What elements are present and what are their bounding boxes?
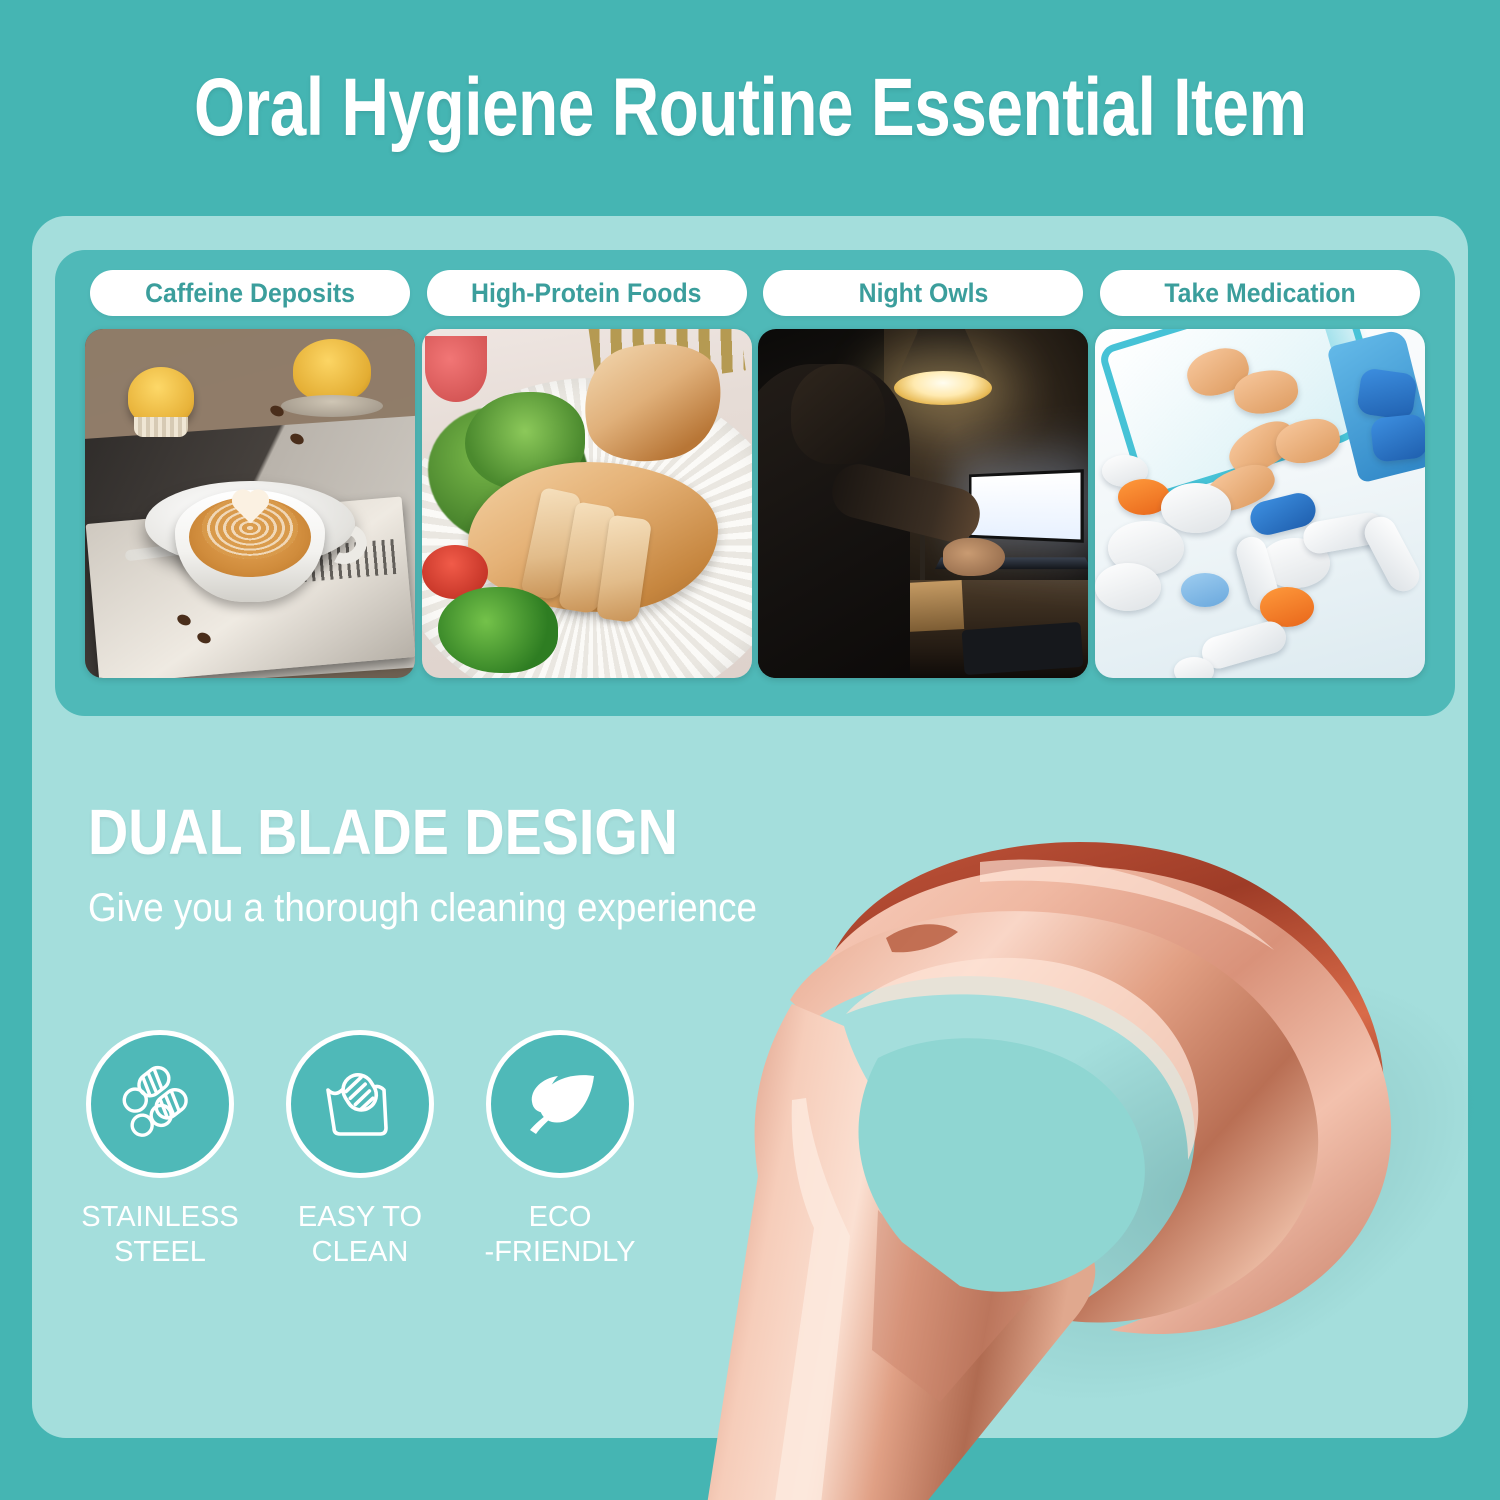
tongue-scraper-illustration [640,790,1500,1500]
feature-label: ECO -FRIENDLY [485,1200,636,1270]
laptop-screen [969,469,1084,543]
rose-gold-dual-blade-tongue-scraper [640,790,1500,1500]
pill-capsule [1359,512,1425,598]
feature-eco-friendly[interactable]: ECO -FRIENDLY [482,1030,638,1270]
pill-tablet [1095,563,1161,611]
feature-list: STAINLESS STEEL EASY TO CLEAN [82,1030,638,1270]
stainless-steel-icon [114,1056,206,1153]
cause-label-text: Caffeine Deposits [145,278,355,309]
mouse-pad [961,622,1083,676]
feature-stainless-steel[interactable]: STAINLESS STEEL [82,1030,238,1270]
lamp-glow [894,371,992,405]
pill-capsule [1356,367,1418,420]
cause-label-pill: High-Protein Foods [427,270,747,316]
person-head [791,364,885,464]
bear-cupcake-right [293,339,371,401]
cause-label-pill: Caffeine Deposits [90,270,410,316]
cause-label-text: High-Protein Foods [471,278,701,309]
page-title: Oral Hygiene Routine Essential Item [194,67,1306,149]
latte-art-heart [229,491,271,531]
bear-cupcake-left [128,367,194,425]
causes-row: Caffeine Deposits [55,250,1455,716]
easy-to-clean-icon [314,1056,406,1153]
feature-icon-circle [86,1030,234,1178]
feature-easy-to-clean[interactable]: EASY TO CLEAN [282,1030,438,1270]
pill-tablet [1174,657,1214,678]
fried-chicken-photo [422,329,752,678]
feature-label: EASY TO CLEAN [298,1200,422,1270]
cause-label-pill: Night Owls [763,270,1083,316]
pill-tablet [1181,573,1229,607]
cause-label-text: Take Medication [1164,278,1355,309]
page-header: Oral Hygiene Routine Essential Item [0,0,1500,216]
feature-icon-circle [486,1030,634,1178]
cause-item-night-owls[interactable]: Night Owls [758,270,1088,692]
cause-label-text: Night Owls [858,278,988,309]
causes-card: Caffeine Deposits [55,250,1455,716]
cause-item-medication[interactable]: Take Medication [1095,270,1425,692]
feature-icon-circle [286,1030,434,1178]
feature-label: STAINLESS STEEL [81,1200,238,1270]
spilled-pills-photo [1095,329,1425,678]
pill-tablet [1161,483,1231,533]
coffee-latte-photo [85,329,415,678]
pill-capsule [1370,414,1425,463]
cause-label-pill: Take Medication [1100,270,1420,316]
cause-item-protein[interactable]: High-Protein Foods [422,270,752,692]
man-at-laptop-night-photo [758,329,1088,678]
red-glass [425,336,487,402]
cause-item-caffeine[interactable]: Caffeine Deposits [85,270,415,692]
eco-friendly-leaf-icon [514,1056,606,1153]
